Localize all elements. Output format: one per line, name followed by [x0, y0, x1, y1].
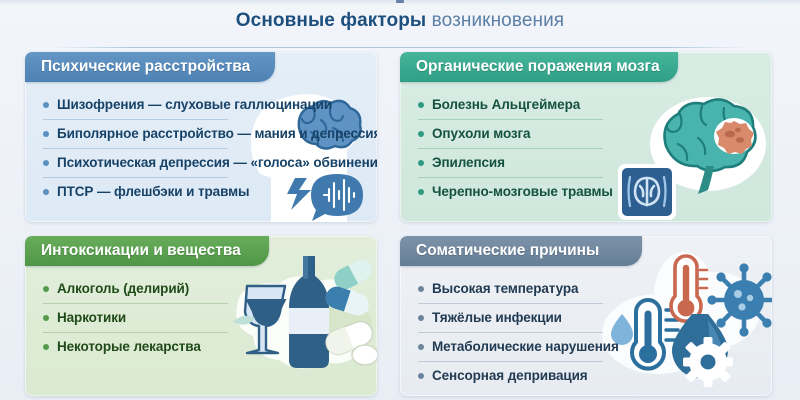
- bullet-icon: [43, 286, 49, 292]
- card-intox-list: Алкоголь (делирий) Наркотики Некоторые л…: [25, 266, 377, 396]
- list-item-label: Сенсорная депривация: [432, 368, 588, 383]
- list-item[interactable]: Опухоли мозга: [400, 119, 772, 148]
- list-item[interactable]: Психотическая депрессия — «голоса» обвин…: [25, 148, 377, 177]
- page-title-rest: возникновения: [426, 10, 564, 31]
- list-item-label: Метаболические нарушения: [432, 339, 619, 354]
- list-item-label: Психотическая депрессия — «голоса» обвин…: [57, 155, 377, 170]
- list-item[interactable]: Некоторые лекарства: [25, 332, 377, 361]
- bullet-icon: [418, 102, 424, 108]
- card-somatic-causes[interactable]: Соматические причины: [400, 236, 772, 396]
- list-item[interactable]: Наркотики: [25, 303, 377, 332]
- list-item[interactable]: Биполярное расстройство — мания и депрес…: [25, 119, 377, 148]
- list-item-label: Наркотики: [57, 310, 126, 325]
- list-item-label: Болезнь Альцгеймера: [432, 97, 580, 112]
- page-header: Основные факторы возникновения: [0, 10, 800, 42]
- card-intoxication-substances[interactable]: Интоксикации и вещества: [25, 236, 377, 396]
- card-intox-header: Интоксикации и вещества: [25, 236, 269, 266]
- list-item[interactable]: Алкоголь (делирий): [25, 274, 377, 303]
- bullet-icon: [418, 373, 424, 379]
- page-title-strong: Основные факторы: [236, 10, 426, 31]
- card-mental-title: Психические расстройства: [25, 58, 272, 76]
- list-item[interactable]: Метаболические нарушения: [400, 332, 772, 361]
- card-mental-disorders[interactable]: Психические расстройства: [25, 52, 377, 222]
- card-mental-list: Шизофрения — слуховые галлюцинации Бипол…: [25, 82, 377, 222]
- list-item-label: Высокая температура: [432, 281, 578, 296]
- list-item-label: Опухоли мозга: [432, 126, 530, 141]
- list-item[interactable]: Высокая температура: [400, 274, 772, 303]
- list-item[interactable]: Шизофрения — слуховые галлюцинации: [25, 90, 377, 119]
- list-item-label: Алкоголь (делирий): [57, 281, 189, 296]
- list-item-label: Биполярное расстройство — мания и депрес…: [57, 126, 377, 141]
- list-item[interactable]: Тяжёлые инфекции: [400, 303, 772, 332]
- header-divider: [52, 47, 748, 48]
- cropped-text-remnant: [396, 0, 404, 3]
- bullet-icon: [418, 131, 424, 137]
- card-organic-header: Органические поражения мозга: [400, 52, 678, 82]
- list-item[interactable]: Черепно-мозговые травмы: [400, 177, 772, 206]
- list-item-label: Некоторые лекарства: [57, 339, 201, 354]
- list-item[interactable]: Эпилепсия: [400, 148, 772, 177]
- card-mental-header: Психические расстройства: [25, 52, 275, 82]
- card-somatic-list: Высокая температура Тяжёлые инфекции Мет…: [400, 266, 772, 396]
- card-intox-title: Интоксикации и вещества: [25, 242, 263, 260]
- bullet-icon: [43, 160, 49, 166]
- card-somatic-header: Соматические причины: [400, 236, 642, 266]
- infographic-page: Основные факторы возникновения Психическ…: [0, 0, 800, 400]
- bullet-icon: [418, 315, 424, 321]
- bullet-icon: [43, 131, 49, 137]
- card-organic-brain-lesions[interactable]: Органические поражения мозга: [400, 52, 772, 222]
- bullet-icon: [418, 189, 424, 195]
- list-item-label: Шизофрения — слуховые галлюцинации: [57, 97, 332, 112]
- top-cropped-strip: [0, 0, 800, 4]
- list-item[interactable]: Сенсорная депривация: [400, 361, 772, 390]
- list-item-label: ПТСР — флешбэки и травмы: [57, 184, 249, 199]
- bullet-icon: [418, 160, 424, 166]
- card-organic-title: Органические поражения мозга: [400, 58, 682, 76]
- list-item-label: Черепно-мозговые травмы: [432, 184, 613, 199]
- list-item[interactable]: ПТСР — флешбэки и травмы: [25, 177, 377, 206]
- list-item-label: Тяжёлые инфекции: [432, 310, 562, 325]
- bullet-icon: [418, 286, 424, 292]
- bullet-icon: [43, 189, 49, 195]
- list-item[interactable]: Болезнь Альцгеймера: [400, 90, 772, 119]
- bullet-icon: [43, 102, 49, 108]
- card-organic-list: Болезнь Альцгеймера Опухоли мозга Эпилеп…: [400, 82, 772, 222]
- list-item-label: Эпилепсия: [432, 155, 505, 170]
- bullet-icon: [43, 315, 49, 321]
- bullet-icon: [43, 344, 49, 350]
- page-title: Основные факторы возникновения: [0, 10, 800, 32]
- bullet-icon: [418, 344, 424, 350]
- card-somatic-title: Соматические причины: [400, 242, 621, 260]
